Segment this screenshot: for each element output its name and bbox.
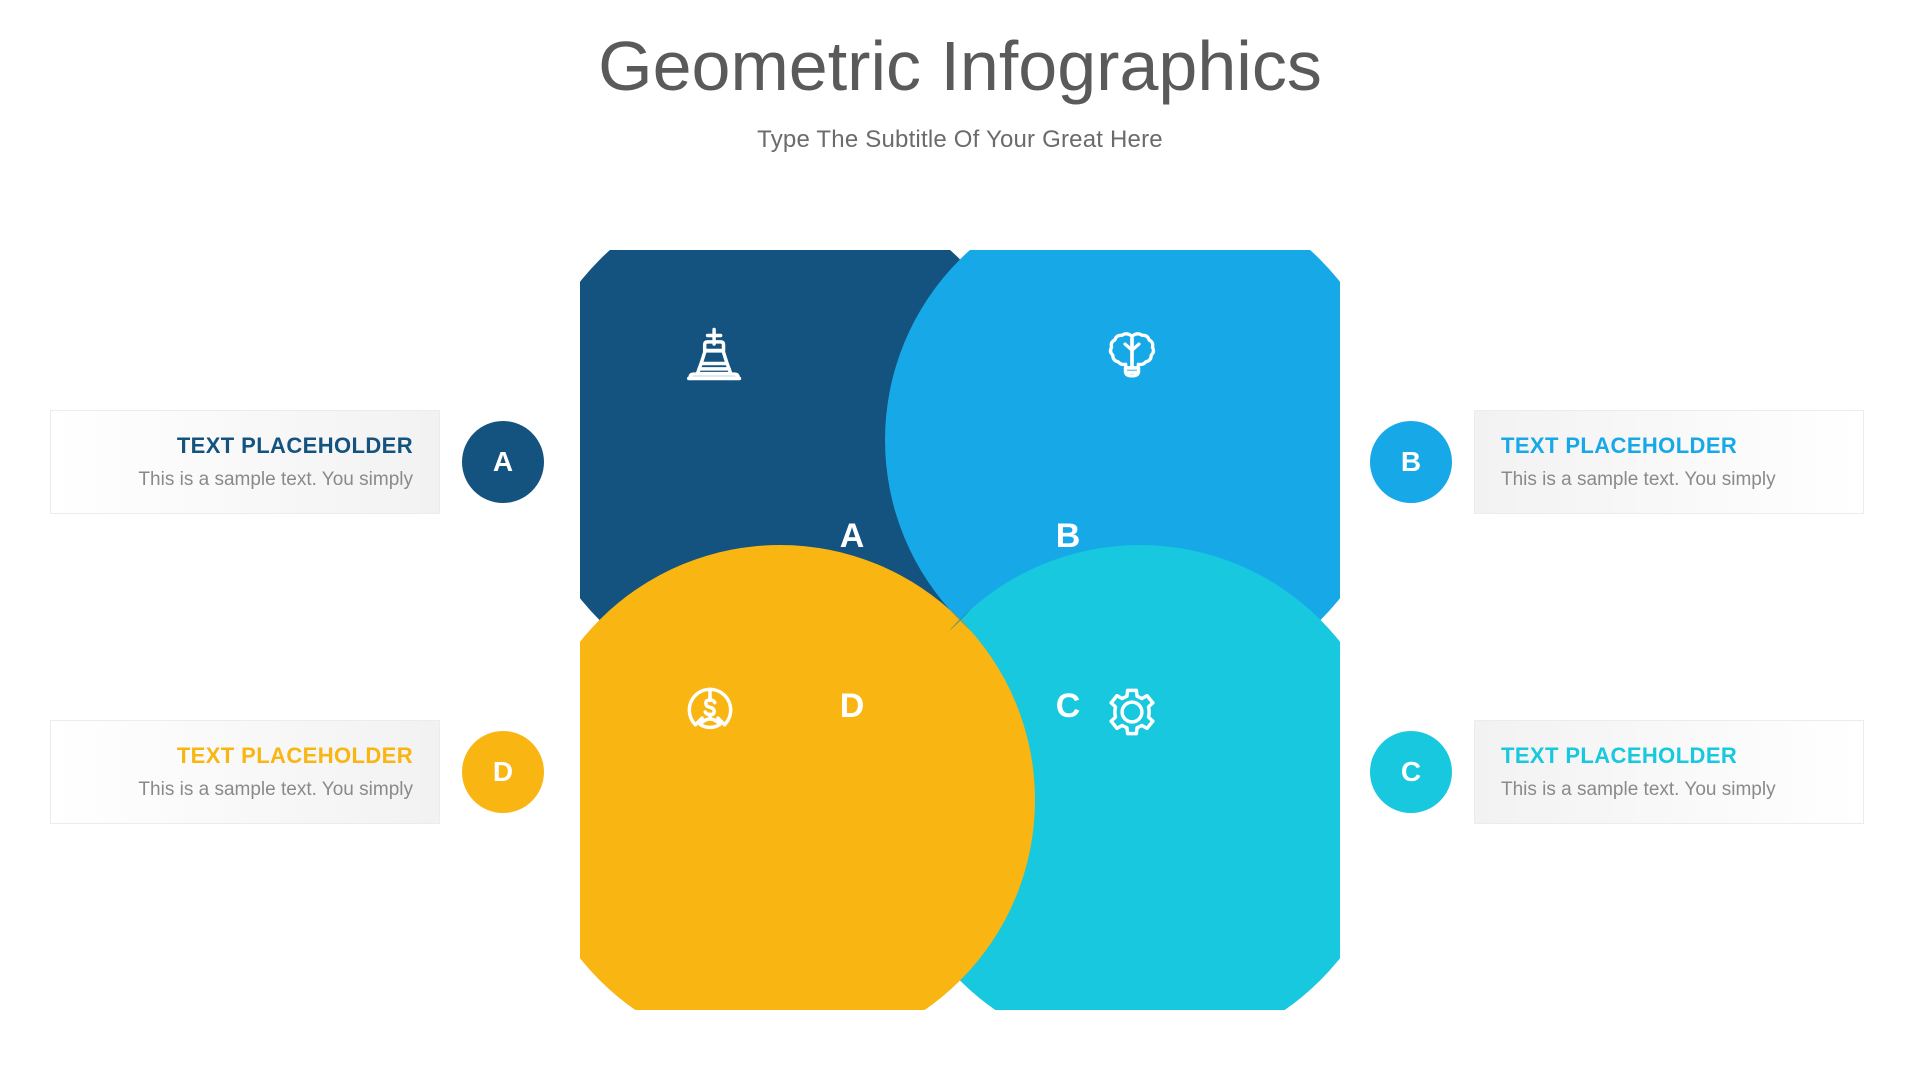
callout-a[interactable]: TEXT PLACEHOLDER This is a sample text. … <box>50 410 560 514</box>
callout-b-badge[interactable]: B <box>1370 421 1452 503</box>
callout-d[interactable]: TEXT PLACEHOLDER This is a sample text. … <box>50 720 560 824</box>
callout-b[interactable]: B TEXT PLACEHOLDER This is a sample text… <box>1370 410 1880 514</box>
venn-label-c: C <box>1056 687 1081 725</box>
callout-d-badge[interactable]: D <box>462 731 544 813</box>
callout-d-title: TEXT PLACEHOLDER <box>177 743 413 769</box>
callout-c-text: This is a sample text. You simply <box>1501 779 1776 801</box>
page-title: Geometric Infographics <box>0 30 1920 104</box>
venn-diagram: A B C D <box>580 250 1340 1010</box>
venn-label-a: A <box>840 517 865 555</box>
venn-label-b: B <box>1056 517 1081 555</box>
callout-d-text: This is a sample text. You simply <box>138 779 413 801</box>
callout-b-text: This is a sample text. You simply <box>1501 469 1776 491</box>
callout-c[interactable]: C TEXT PLACEHOLDER This is a sample text… <box>1370 720 1880 824</box>
callout-d-box: TEXT PLACEHOLDER This is a sample text. … <box>50 720 440 824</box>
callout-c-badge[interactable]: C <box>1370 731 1452 813</box>
venn-label-d: D <box>840 687 865 725</box>
callout-c-box: TEXT PLACEHOLDER This is a sample text. … <box>1474 720 1864 824</box>
callout-a-badge[interactable]: A <box>462 421 544 503</box>
callout-b-box: TEXT PLACEHOLDER This is a sample text. … <box>1474 410 1864 514</box>
slide-canvas: Geometric Infographics Type The Subtitle… <box>0 0 1920 1080</box>
page-subtitle: Type The Subtitle Of Your Great Here <box>0 126 1920 154</box>
slide-header: Geometric Infographics Type The Subtitle… <box>0 30 1920 154</box>
callout-c-title: TEXT PLACEHOLDER <box>1501 743 1737 769</box>
callout-a-box: TEXT PLACEHOLDER This is a sample text. … <box>50 410 440 514</box>
callout-a-text: This is a sample text. You simply <box>138 469 413 491</box>
callout-b-title: TEXT PLACEHOLDER <box>1501 433 1737 459</box>
callout-a-title: TEXT PLACEHOLDER <box>177 433 413 459</box>
